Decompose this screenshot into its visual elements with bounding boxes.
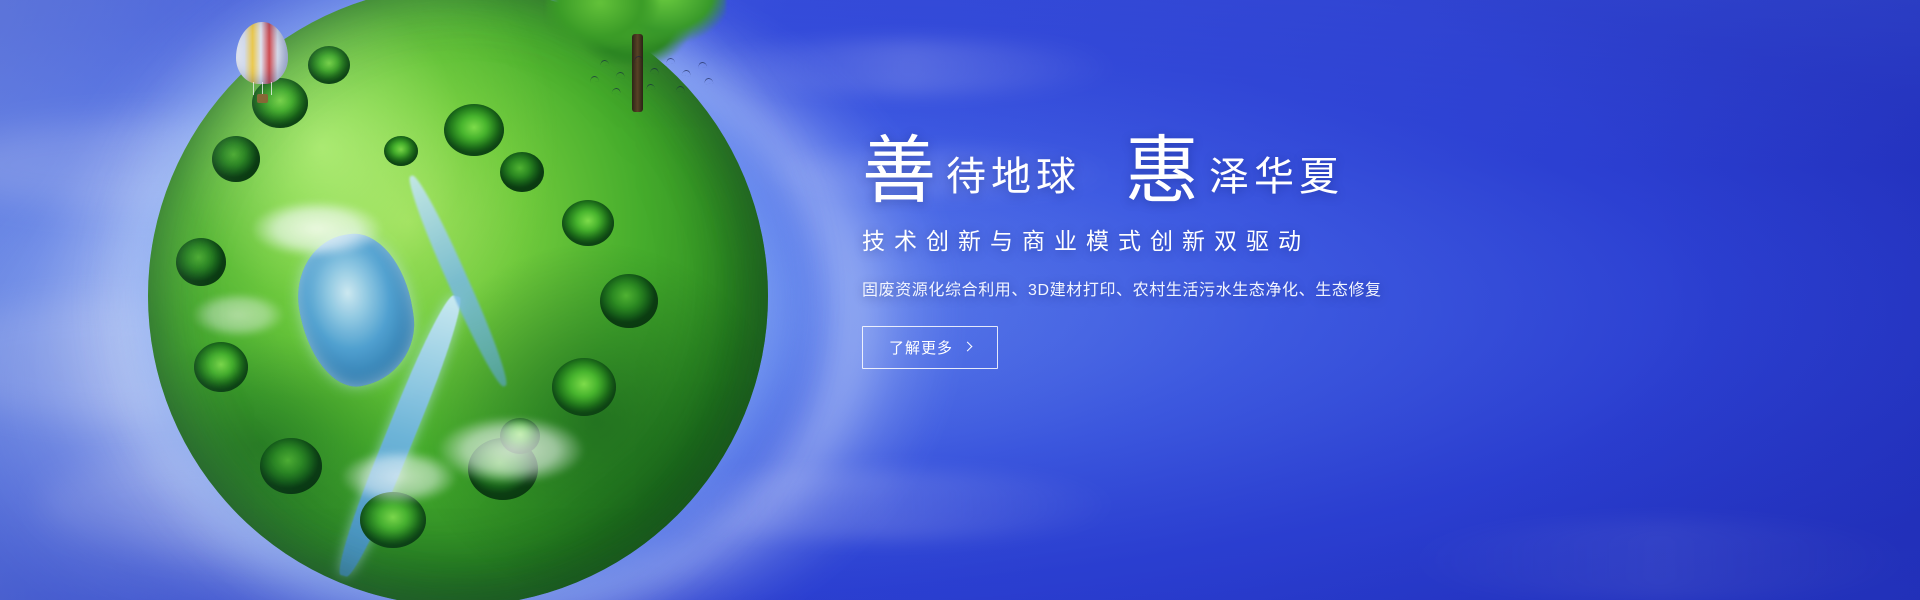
headline-accent-char-2: 惠 (1125, 134, 1199, 208)
hero-banner: 善 待地球 惠 泽华夏 技术创新与商业模式创新双驱动 固废资源化综合利用、3D建… (0, 0, 1920, 600)
page-title: 善 待地球 惠 泽华夏 (862, 128, 1482, 202)
headline-group-2: 惠 泽华夏 (1125, 128, 1344, 202)
headline-accent-char-1: 善 (862, 134, 936, 208)
banner-content: 善 待地球 惠 泽华夏 技术创新与商业模式创新双驱动 固废资源化综合利用、3D建… (862, 128, 1482, 369)
learn-more-button[interactable]: 了解更多 (862, 326, 998, 369)
chevron-right-icon (963, 342, 973, 352)
headline-rest-1: 待地球 (946, 157, 1081, 197)
headline-rest-2: 泽华夏 (1209, 157, 1344, 197)
banner-description: 固废资源化综合利用、3D建材打印、农村生活污水生态净化、生态修复 (862, 276, 1482, 300)
learn-more-label: 了解更多 (889, 337, 953, 358)
headline-group-1: 善 待地球 (862, 128, 1081, 202)
banner-subtitle: 技术创新与商业模式创新双驱动 (862, 222, 1482, 256)
